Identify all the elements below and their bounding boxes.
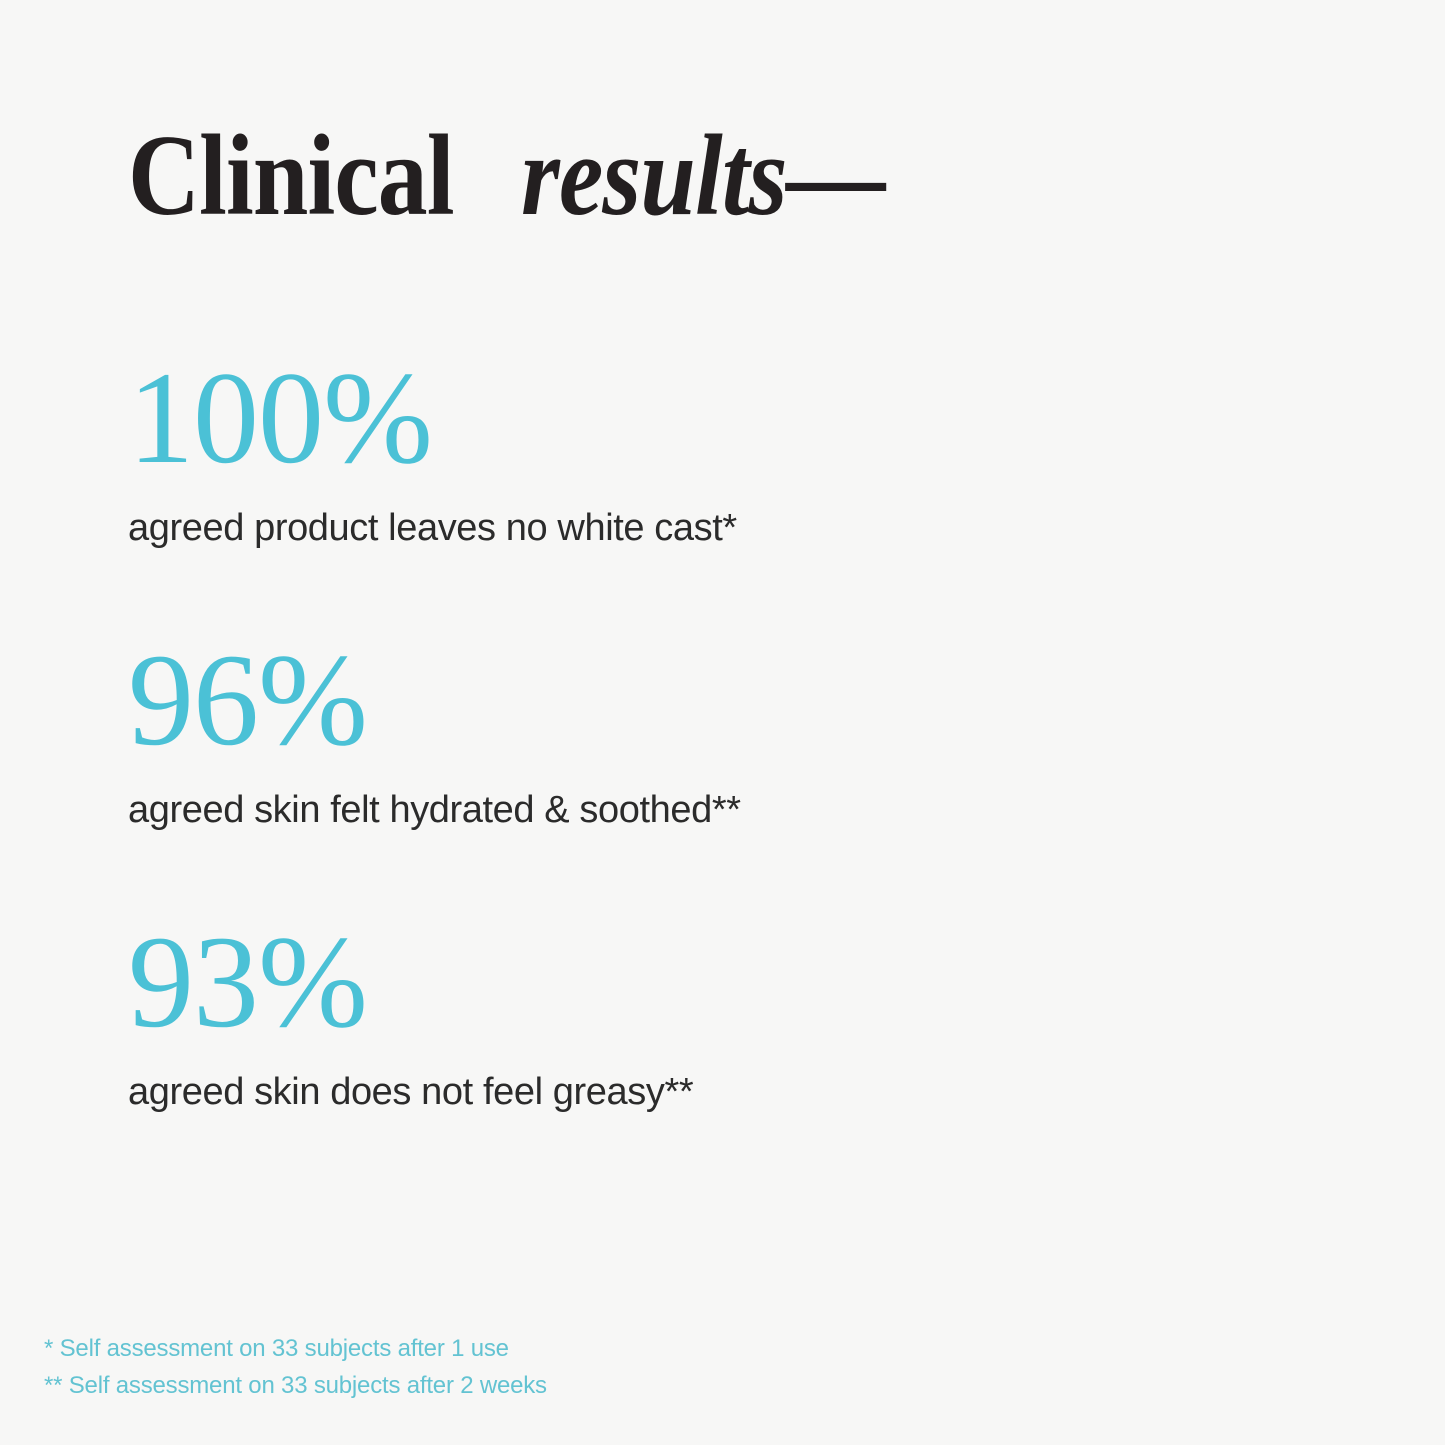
stat-caption: agreed skin felt hydrated & soothed** bbox=[128, 790, 1288, 832]
stats-list: 100% agreed product leaves no white cast… bbox=[128, 352, 1288, 1113]
stat-item: 96% agreed skin felt hydrated & soothed*… bbox=[128, 634, 1288, 832]
stat-figure: 96% bbox=[128, 634, 1288, 752]
stat-item: 93% agreed skin does not feel greasy** bbox=[128, 916, 1288, 1114]
footnote-double-asterisk: ** Self assessment on 33 subjects after … bbox=[44, 1367, 944, 1404]
clinical-results-poster: Clinicalresults— 100% agreed product lea… bbox=[0, 0, 1445, 1445]
page-title: Clinicalresults— bbox=[128, 118, 945, 234]
stat-figure: 93% bbox=[128, 916, 1288, 1034]
stat-item: 100% agreed product leaves no white cast… bbox=[128, 352, 1288, 550]
footnote-single-asterisk: * Self assessment on 33 subjects after 1… bbox=[44, 1330, 944, 1367]
stat-caption: agreed product leaves no white cast* bbox=[128, 508, 1288, 550]
stat-figure: 100% bbox=[128, 352, 1288, 470]
page-title-italic: results— bbox=[521, 118, 886, 234]
page-title-roman: Clinical bbox=[128, 118, 454, 234]
stat-caption: agreed skin does not feel greasy** bbox=[128, 1072, 1288, 1114]
footnote-list: * Self assessment on 33 subjects after 1… bbox=[44, 1330, 944, 1404]
